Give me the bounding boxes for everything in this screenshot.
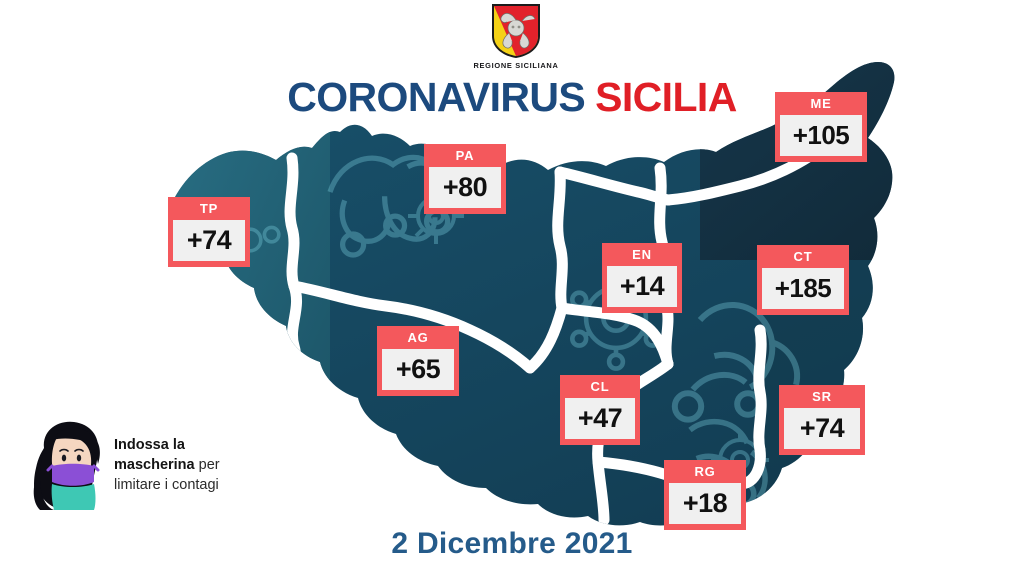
province-value-wrap-rg: +18 xyxy=(669,483,741,524)
province-code-ag: AG xyxy=(382,330,454,346)
province-box-pa[interactable]: PA +80 xyxy=(424,144,506,214)
mask-notice: Indossa la mascherina per limitare i con… xyxy=(24,418,294,518)
province-value-wrap-ag: +65 xyxy=(382,349,454,390)
province-value-wrap-pa: +80 xyxy=(429,167,501,208)
province-box-ag[interactable]: AG +65 xyxy=(377,326,459,396)
title-accent: SICILIA xyxy=(595,74,737,120)
logo-caption: REGIONE SICILIANA xyxy=(462,61,570,70)
mask-notice-text: Indossa la mascherina per limitare i con… xyxy=(114,435,299,495)
province-box-ct[interactable]: CT +185 xyxy=(757,245,849,315)
regione-siciliana-logo: REGIONE SICILIANA xyxy=(462,2,570,70)
mask-notice-line3: limitare i contagi xyxy=(114,477,219,493)
mask-notice-line2-strong: mascherina xyxy=(114,457,195,473)
province-box-rg[interactable]: RG +18 xyxy=(664,460,746,530)
province-value-wrap-en: +14 xyxy=(607,266,677,307)
province-code-me: ME xyxy=(780,96,862,112)
infographic-root: REGIONE SICILIANA CORONAVIRUSSICILIA TP … xyxy=(0,0,1024,576)
province-value-pa: +80 xyxy=(431,172,499,202)
mask-notice-line1: Indossa la xyxy=(114,437,185,453)
province-value-me: +105 xyxy=(782,120,860,150)
province-code-en: EN xyxy=(607,247,677,263)
province-value-tp: +74 xyxy=(175,225,243,255)
province-box-sr[interactable]: SR +74 xyxy=(779,385,865,455)
date-label: 2 Dicembre 2021 xyxy=(0,527,1024,561)
province-value-cl: +47 xyxy=(567,403,633,433)
province-box-me[interactable]: ME +105 xyxy=(775,92,867,162)
province-value-sr: +74 xyxy=(786,413,858,443)
province-code-sr: SR xyxy=(784,389,860,405)
mask-notice-line2-regular: per xyxy=(195,457,220,473)
province-value-ag: +65 xyxy=(384,354,452,384)
province-value-rg: +18 xyxy=(671,488,739,518)
province-code-ct: CT xyxy=(762,249,844,265)
province-box-tp[interactable]: TP +74 xyxy=(168,197,250,267)
woman-wearing-mask-icon xyxy=(24,418,110,514)
province-value-wrap-sr: +74 xyxy=(784,408,860,449)
trinacria-shield-icon xyxy=(489,2,543,60)
province-box-cl[interactable]: CL +47 xyxy=(560,375,640,445)
province-value-wrap-tp: +74 xyxy=(173,220,245,261)
page-title: CORONAVIRUSSICILIA xyxy=(0,74,1024,121)
province-value-en: +14 xyxy=(609,271,675,301)
province-code-cl: CL xyxy=(565,379,635,395)
province-code-pa: PA xyxy=(429,148,501,164)
province-value-wrap-cl: +47 xyxy=(565,398,635,439)
title-main: CORONAVIRUS xyxy=(287,74,585,120)
province-value-ct: +185 xyxy=(764,273,842,303)
province-code-tp: TP xyxy=(173,201,245,217)
province-box-en[interactable]: EN +14 xyxy=(602,243,682,313)
province-value-wrap-me: +105 xyxy=(780,115,862,156)
province-code-rg: RG xyxy=(669,464,741,480)
province-value-wrap-ct: +185 xyxy=(762,268,844,309)
